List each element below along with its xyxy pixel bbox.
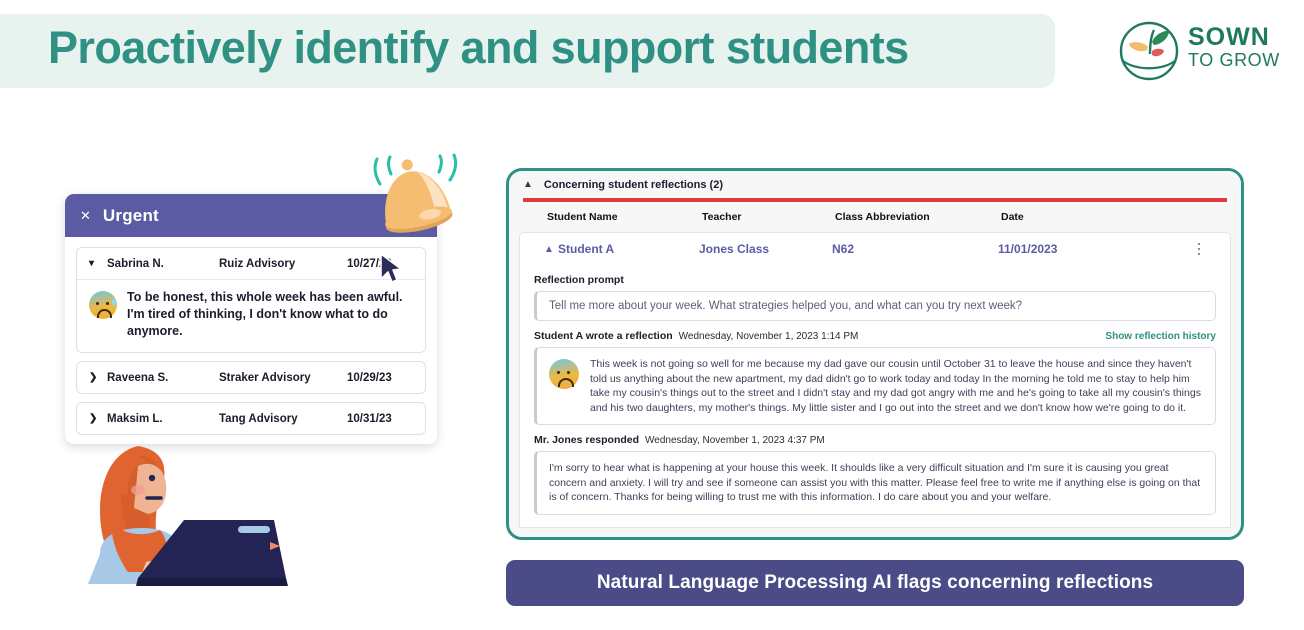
page-title: Proactively identify and support student…	[48, 22, 909, 74]
urgent-panel-title: Urgent	[103, 206, 159, 226]
reflection-date: 10/31/23	[347, 413, 413, 425]
chevron-up-icon[interactable]: ▲	[544, 244, 558, 255]
reflection-text: To be honest, this whole week has been a…	[127, 289, 413, 340]
cell-class-abbreviation: N62	[832, 242, 998, 256]
chevron-down-icon[interactable]: ▾	[89, 258, 107, 269]
cell-student-name[interactable]: Student A	[558, 242, 699, 256]
chevron-up-icon[interactable]: ▲	[523, 179, 533, 190]
column-header-teacher: Teacher	[702, 211, 835, 223]
teacher-entry-meta: Mr. Jones responded Wednesday, November …	[534, 434, 1216, 446]
column-header-date: Date	[1001, 211, 1121, 223]
advisory-name: Tang Advisory	[219, 413, 347, 425]
teacher-entry-author: Mr. Jones responded	[534, 434, 639, 446]
logo-line-2: TO GROW	[1188, 50, 1280, 70]
cell-date: 11/01/2023	[998, 242, 1118, 256]
student-reflection-text: This week is not going so well for me be…	[590, 357, 1203, 415]
nlp-banner-text: Natural Language Processing AI flags con…	[597, 572, 1153, 594]
urgent-row-detail: To be honest, this whole week has been a…	[77, 279, 425, 352]
woman-at-laptop-illustration	[42, 438, 312, 618]
urgent-row-header[interactable]: ❯ Raveena S. Straker Advisory 10/29/23	[77, 362, 425, 393]
student-name: Sabrina N.	[107, 258, 219, 270]
teacher-entry-timestamp: Wednesday, November 1, 2023 4:37 PM	[645, 435, 825, 446]
concerning-reflections-card: ▲ Concerning student reflections (2) Stu…	[506, 168, 1244, 540]
student-entry-author: Student A wrote a reflection	[534, 330, 673, 342]
student-reflection-bubble: This week is not going so well for me be…	[534, 347, 1216, 425]
column-header-class-abbreviation: Class Abbreviation	[835, 211, 1001, 223]
student-entry-meta: Student A wrote a reflection Wednesday, …	[534, 330, 1216, 342]
student-name: Maksim L.	[107, 413, 219, 425]
chevron-right-icon[interactable]: ❯	[89, 413, 107, 424]
student-entry-timestamp: Wednesday, November 1, 2023 1:14 PM	[679, 331, 859, 342]
sad-face-emoji-icon	[89, 291, 117, 319]
teacher-response-text: I'm sorry to hear what is happening at y…	[549, 461, 1203, 505]
list-item[interactable]: ❯ Raveena S. Straker Advisory 10/29/23	[76, 361, 426, 394]
card-header-title: Concerning student reflections (2)	[544, 179, 723, 191]
student-name: Raveena S.	[107, 372, 219, 384]
show-reflection-history-link[interactable]: Show reflection history	[1105, 331, 1216, 342]
mouse-pointer-icon	[378, 252, 404, 284]
sad-face-emoji-icon	[549, 359, 579, 389]
reflection-prompt-label: Reflection prompt	[534, 274, 1216, 286]
teacher-response-bubble: I'm sorry to hear what is happening at y…	[534, 451, 1216, 515]
chevron-right-icon[interactable]: ❯	[89, 372, 107, 383]
logo-wordmark: SOWN TO GROW	[1188, 24, 1280, 70]
reflection-detail: Reflection prompt Tell me more about you…	[519, 265, 1231, 528]
chevron-down-icon[interactable]: ✕	[80, 209, 91, 222]
card-header[interactable]: ▲ Concerning student reflections (2)	[509, 171, 1241, 198]
list-item[interactable]: ❯ Maksim L. Tang Advisory 10/31/23	[76, 402, 426, 435]
reflection-date: 10/29/23	[347, 372, 413, 384]
table-row[interactable]: ▲ Student A Jones Class N62 11/01/2023	[519, 232, 1231, 265]
sown-to-grow-logo: SOWN TO GROW	[1118, 20, 1288, 82]
advisory-name: Straker Advisory	[219, 372, 347, 384]
logo-mark-icon	[1118, 20, 1180, 82]
kebab-menu-icon[interactable]	[1192, 243, 1206, 256]
list-item[interactable]: ▾ Sabrina N. Ruiz Advisory 10/27/23 To b…	[76, 247, 426, 353]
reflection-prompt-text: Tell me more about your week. What strat…	[534, 291, 1216, 321]
advisory-name: Ruiz Advisory	[219, 258, 347, 270]
notification-bell-icon	[358, 146, 474, 258]
nlp-banner: Natural Language Processing AI flags con…	[506, 560, 1244, 606]
urgent-row-header[interactable]: ❯ Maksim L. Tang Advisory 10/31/23	[77, 403, 425, 434]
table-header-row: Student Name Teacher Class Abbreviation …	[509, 202, 1241, 232]
logo-line-1: SOWN	[1188, 24, 1280, 50]
column-header-student-name: Student Name	[547, 211, 702, 223]
cell-teacher: Jones Class	[699, 242, 832, 256]
